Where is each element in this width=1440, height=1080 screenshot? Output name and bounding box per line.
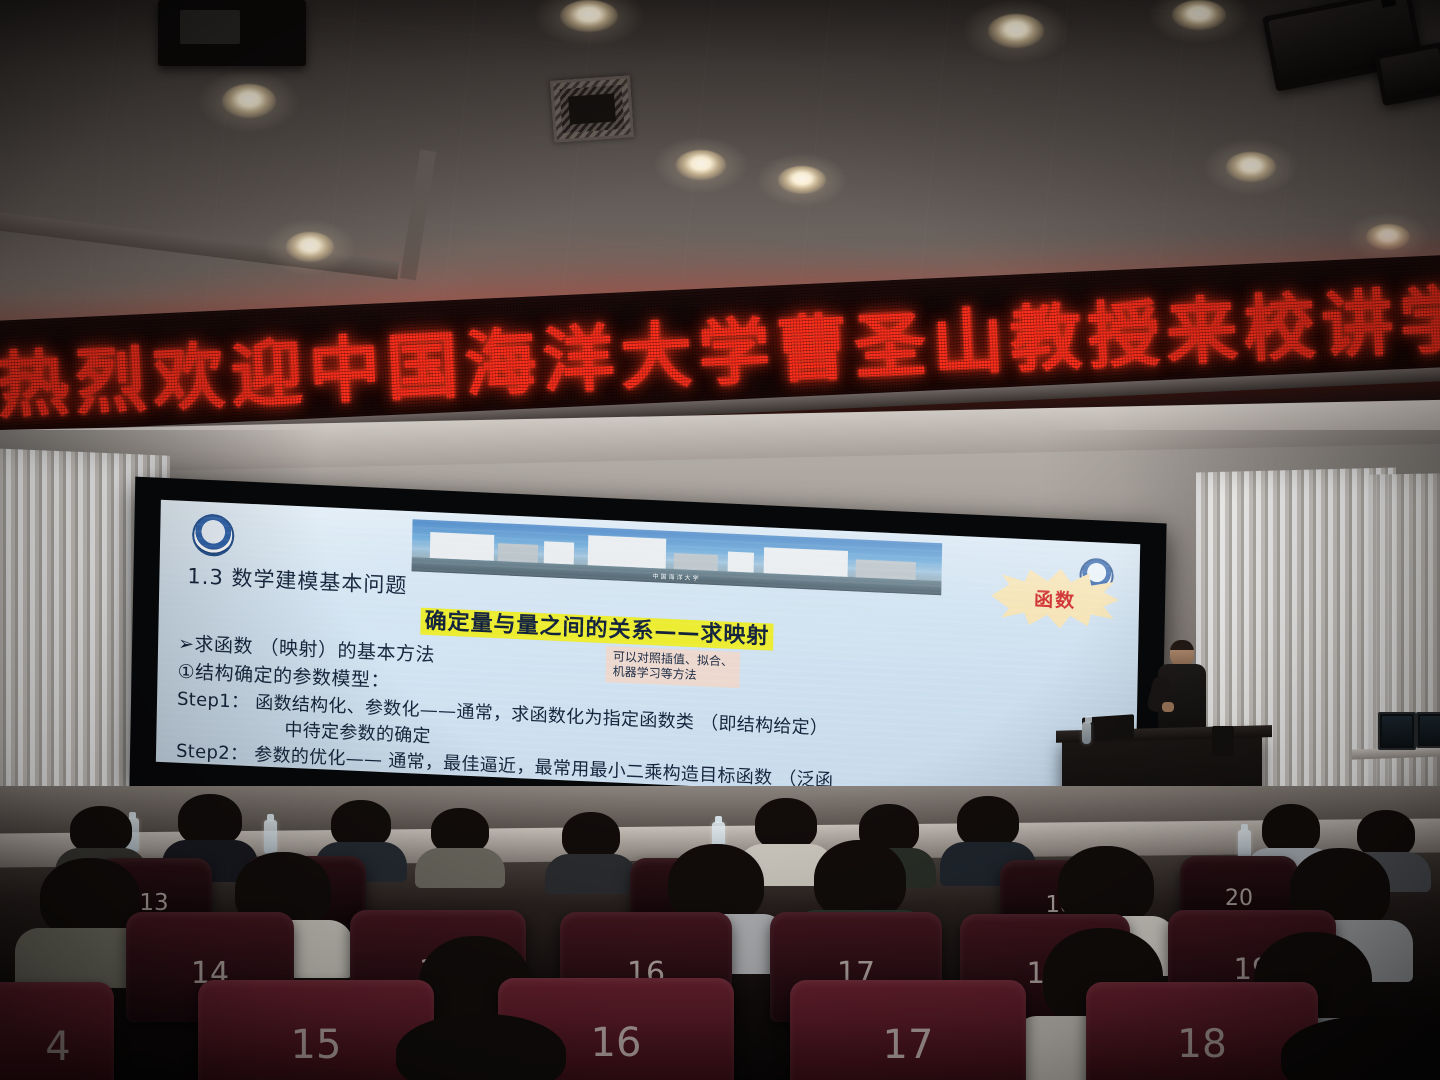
downlight-icon — [676, 150, 726, 180]
slide-line-4: 中待定参数的确定 — [284, 722, 431, 748]
projection-screen: 中国海洋大学 函数 1.3 数学建模基本问题 确定量与量之间的关系——求映射 ➢… — [129, 477, 1166, 834]
slide-line-3: Step1： 函数结构化、参数化——通常，求函数化为指定函数类 （即结构给定） — [177, 691, 828, 739]
audience-member-foreground — [1276, 1016, 1440, 1080]
audience-area: 13 14 16 18 20 — [0, 786, 1440, 1080]
monitor-icon — [1378, 712, 1416, 750]
water-bottle-icon — [1082, 722, 1091, 744]
seat-number: 15 — [291, 1022, 342, 1068]
slide-callout: 可以对照插值、拟合、 机器学习等方法 — [605, 646, 740, 688]
downlight-icon — [988, 14, 1044, 48]
slide-line-5: Step2： 参数的优化—— 通常，最佳逼近，最常用最小二乘构造目标函数 （泛函 — [176, 743, 834, 792]
seat-number: 4 — [45, 1024, 70, 1070]
seat-number: 18 — [1177, 1022, 1227, 1067]
air-vent-icon — [550, 75, 634, 142]
downlight-icon — [560, 0, 618, 32]
monitor-icon — [1416, 712, 1440, 748]
speaker-box — [1212, 726, 1234, 756]
downlight-icon — [286, 232, 334, 262]
ocean-university-emblem-icon — [192, 513, 235, 557]
downlight-icon — [778, 166, 826, 194]
slide-body: 1.3 数学建模基本问题 确定量与量之间的关系——求映射 ➢求函数 （映射）的基… — [156, 558, 1139, 806]
presentation-slide: 中国海洋大学 函数 1.3 数学建模基本问题 确定量与量之间的关系——求映射 ➢… — [156, 500, 1140, 806]
downlight-icon — [222, 84, 276, 118]
seat-number: 16 — [591, 1020, 642, 1066]
projector-icon — [158, 0, 306, 66]
audience-member — [548, 812, 634, 886]
lecture-hall-photo: 热烈欢迎中国海洋大学曹圣山教授来校讲学 中国海洋大学 — [0, 0, 1440, 1080]
downlight-icon — [1226, 152, 1276, 182]
slide-title: 1.3 数学建模基本问题 — [187, 565, 407, 597]
seat-number: 17 — [883, 1022, 934, 1068]
water-bottle-icon — [264, 820, 277, 854]
seat-17-front: 17 — [790, 980, 1026, 1080]
seat-14-front: 4 — [0, 982, 114, 1080]
slide-line-2: ①结构确定的参数模型： — [177, 663, 390, 693]
downlight-icon — [1172, 0, 1226, 30]
audience-member — [418, 808, 502, 880]
downlight-icon — [1366, 224, 1410, 250]
slide-highlight: 确定量与量之间的关系——求映射 — [420, 608, 773, 651]
seat-number: 20 — [1225, 886, 1253, 911]
audience-member-foreground — [386, 1014, 576, 1080]
